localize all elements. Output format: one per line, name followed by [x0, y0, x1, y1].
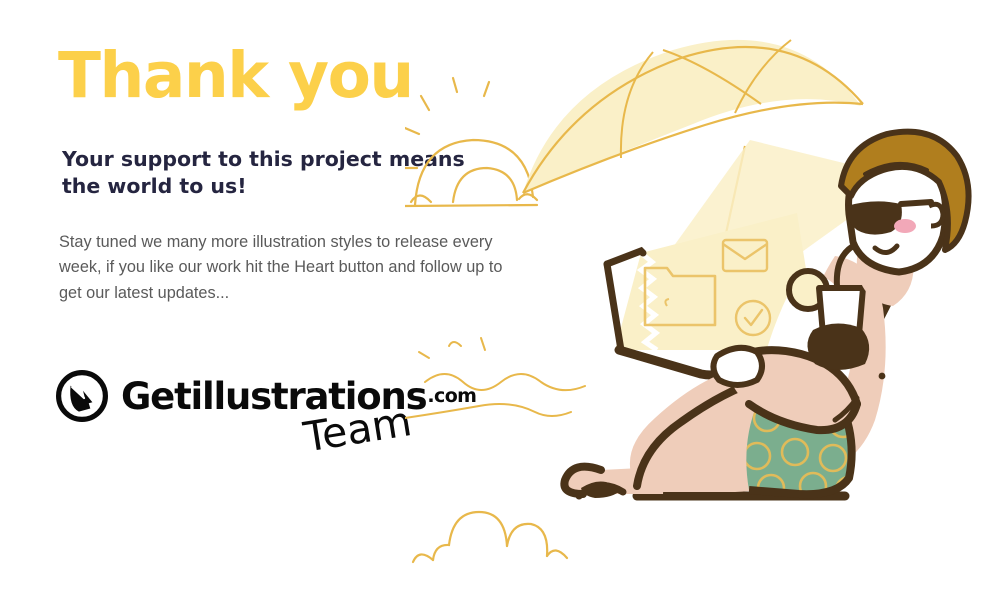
beach-illustration — [405, 0, 1005, 601]
beach-scene-svg — [405, 0, 1005, 601]
thank-you-card: Thank you Your support to this project m… — [0, 0, 1005, 601]
cloud-icon — [413, 512, 567, 562]
sun-behind-clouds-icon — [405, 78, 537, 206]
head — [841, 132, 969, 272]
getillustrations-circle-hand-logo-icon — [56, 370, 108, 422]
water-wave-lines — [405, 338, 585, 418]
